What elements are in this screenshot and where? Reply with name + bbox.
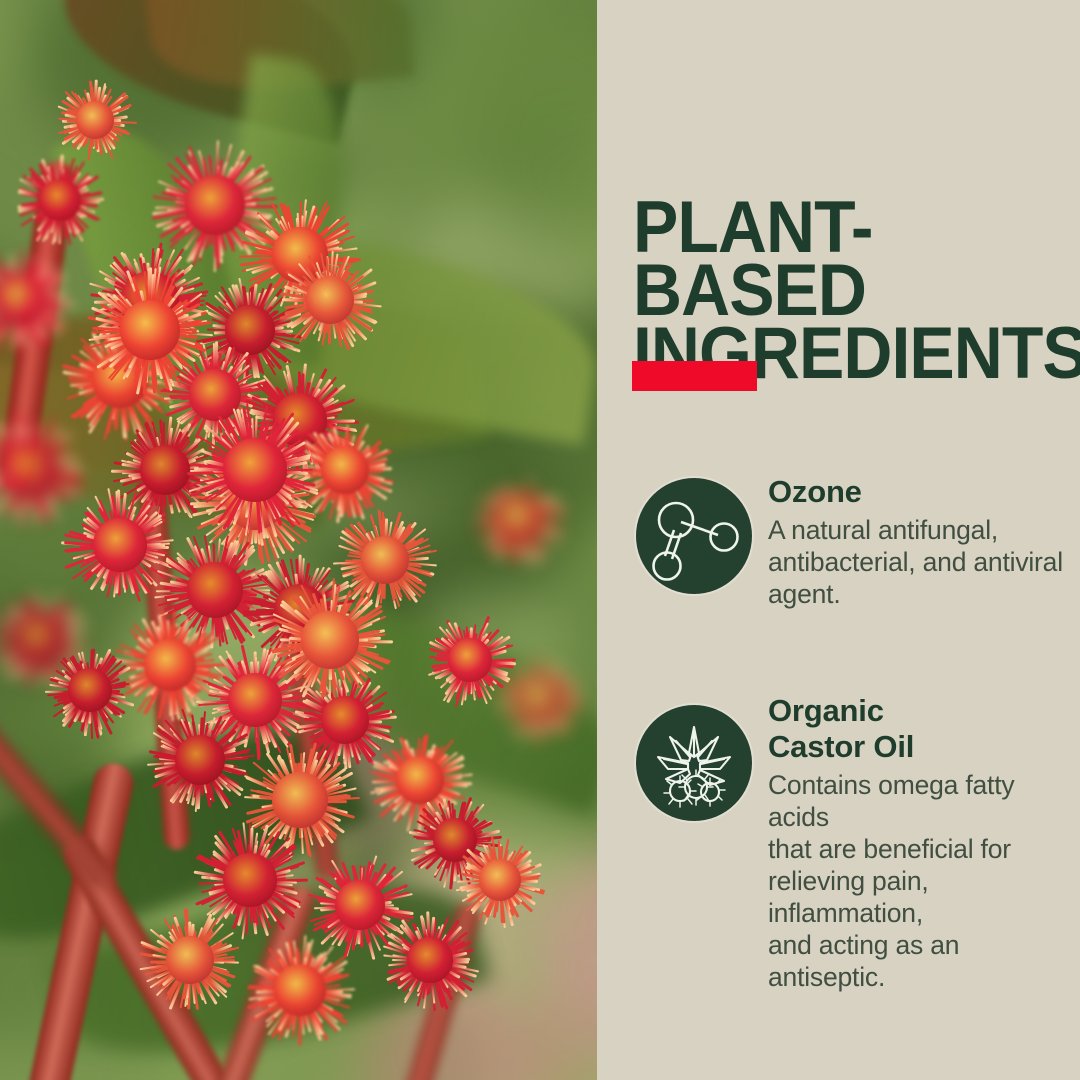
content-panel: PLANT-BASED INGREDIENTS Ozone A natural … (597, 0, 1080, 1080)
ozone-molecule-icon (636, 478, 752, 594)
castor-oil-heading: Organic Castor Oil (768, 693, 1078, 765)
ozone-heading: Ozone (768, 474, 1078, 510)
castor-oil-text-block: Organic Castor Oil Contains omega fatty … (768, 693, 1078, 993)
castor-plant-photo (0, 0, 597, 1080)
page-title: PLANT-BASED INGREDIENTS (633, 196, 1033, 385)
infographic-canvas: PLANT-BASED INGREDIENTS Ozone A natural … (0, 0, 1080, 1080)
castor-plant-icon (636, 705, 752, 821)
ozone-description: A natural antifungal, antibacterial, and… (768, 514, 1078, 610)
castor-oil-description: Contains omega fatty acids that are bene… (768, 769, 1078, 993)
ozone-text-block: Ozone A natural antifungal, antibacteria… (768, 474, 1078, 610)
accent-bar (632, 361, 757, 391)
